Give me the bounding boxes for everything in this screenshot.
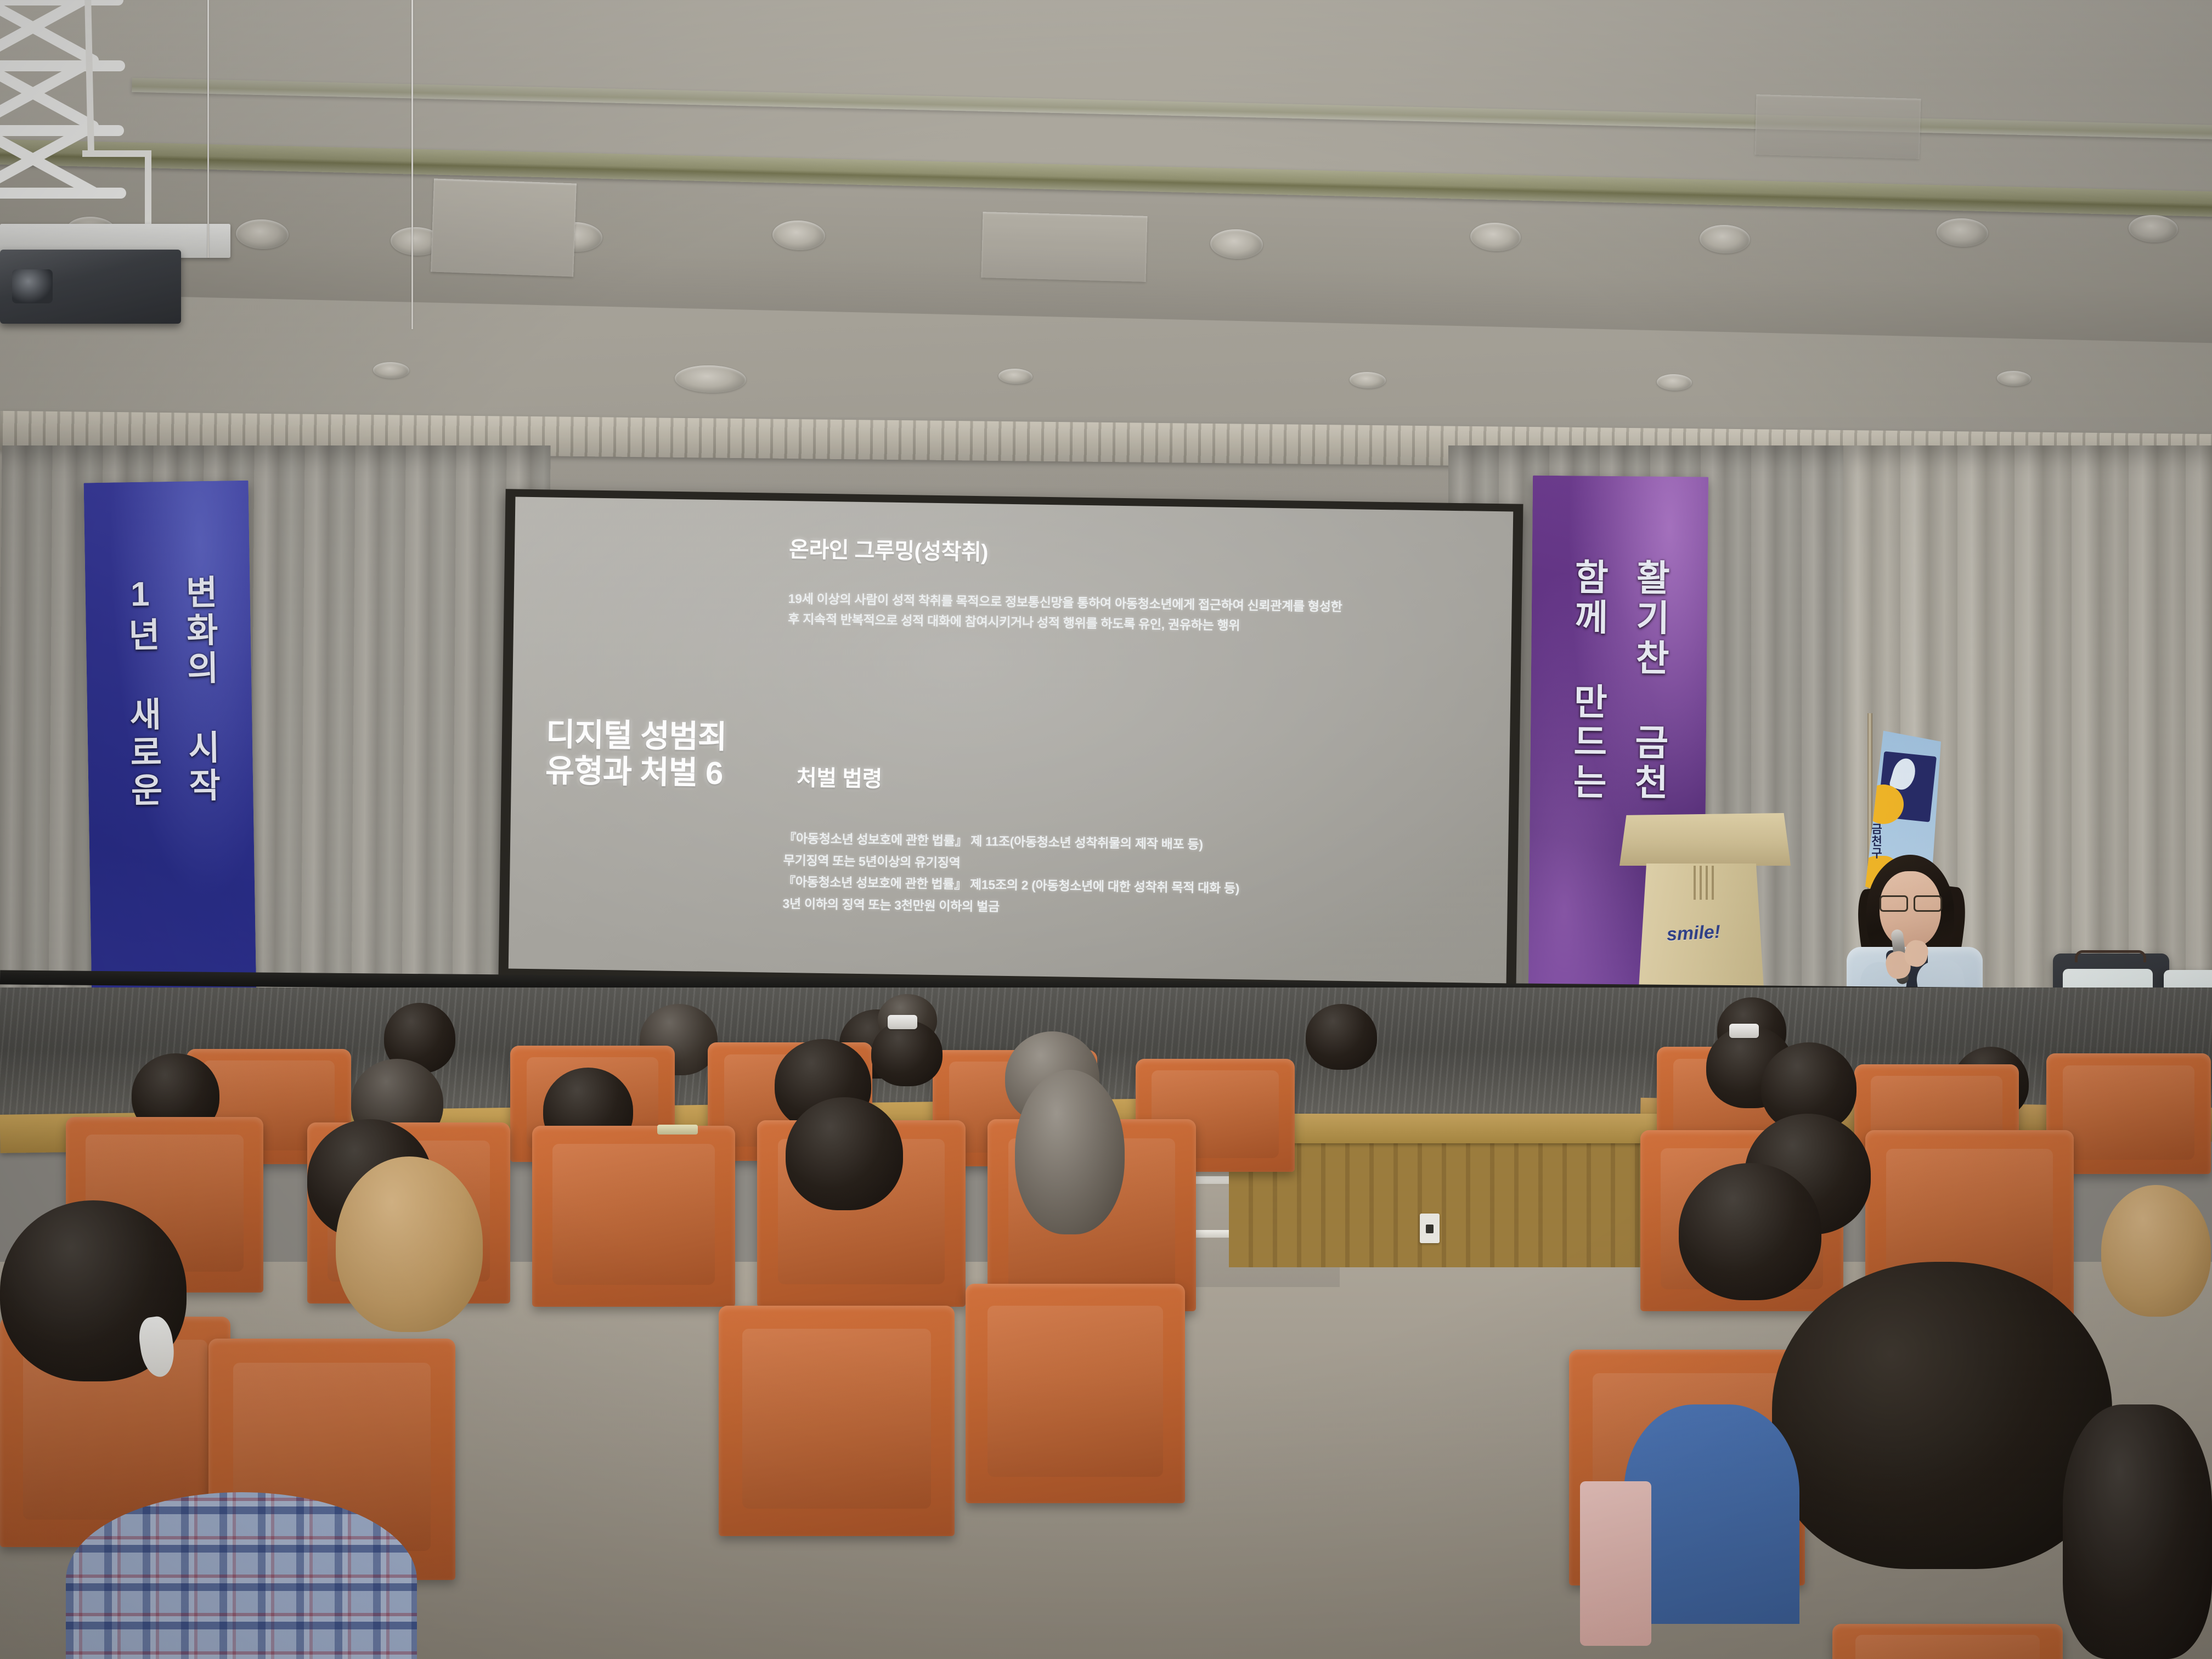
audience-head bbox=[871, 1020, 943, 1086]
audience-head-foreground bbox=[2101, 1185, 2211, 1317]
audience-head bbox=[786, 1097, 903, 1210]
podium-top bbox=[1620, 813, 1791, 866]
projection-screen: 디지털 성범죄 유형과 처벌 6 온라인 그루밍(성착취) 19세 이상의 사람… bbox=[509, 497, 1514, 984]
ceiling-vent bbox=[1755, 94, 1921, 159]
smartphone bbox=[657, 1125, 698, 1135]
wall-socket bbox=[1420, 1214, 1440, 1243]
ceiling-vent bbox=[981, 212, 1147, 282]
stage-curtain-left bbox=[0, 445, 551, 1005]
audience-head bbox=[1015, 1070, 1125, 1234]
slide-law-list: 『아동청소년 성보호에 관한 법률』 제 11조(아동청소년 성착취물의 제작 … bbox=[782, 828, 1398, 924]
projector-lens-icon bbox=[12, 269, 53, 303]
podium-smile-logo: smile! bbox=[1657, 921, 1730, 946]
audience-shoulders-plaid bbox=[66, 1492, 417, 1659]
slide-section-heading: 온라인 그루밍(성착취) bbox=[789, 532, 1283, 571]
pa-speaker-handle bbox=[2075, 950, 2146, 962]
projector bbox=[0, 250, 181, 324]
audience-head-foreground bbox=[1772, 1262, 2112, 1569]
presentation-slide: 디지털 성범죄 유형과 처벌 6 온라인 그루밍(성착취) 19세 이상의 사람… bbox=[509, 497, 1514, 984]
glasses-icon bbox=[1878, 895, 1943, 910]
ceiling-wire bbox=[207, 0, 209, 258]
auditorium-seat bbox=[966, 1284, 1185, 1503]
auditorium-photo: 디지털 성범죄 유형과 처벌 6 온라인 그루밍(성착취) 19세 이상의 사람… bbox=[0, 0, 2212, 1659]
banner-left-line2: 1년 새로운 bbox=[115, 575, 168, 810]
banner-right-line2: 함께 만드는 bbox=[1561, 558, 1616, 803]
auditorium-seat bbox=[719, 1306, 955, 1536]
slide-section-heading-2: 처벌 법령 bbox=[797, 760, 883, 793]
banner-left-blue: 변화의 시작 1년 새로운 bbox=[84, 481, 257, 1005]
hair-clip bbox=[1729, 1024, 1759, 1038]
auditorium-seat bbox=[1832, 1624, 2063, 1659]
auditorium-seat bbox=[532, 1126, 735, 1307]
audience-head bbox=[1306, 1004, 1377, 1070]
projection-screen-frame: 디지털 성범죄 유형과 처벌 6 온라인 그루밍(성착취) 19세 이상의 사람… bbox=[499, 489, 1523, 992]
banner-left-line1: 변화의 시작 bbox=[173, 574, 226, 809]
audience-head-foreground bbox=[1679, 1163, 1821, 1300]
ceiling-wire bbox=[411, 0, 413, 329]
ceiling-vent bbox=[431, 179, 577, 277]
slide-body-paragraph: 19세 이상의 사람이 성적 착취를 목적으로 정보통신망을 통하여 아동청소년… bbox=[788, 589, 1342, 637]
audience-head-foreground bbox=[2063, 1404, 2212, 1659]
audience-tote-bag bbox=[1580, 1481, 1651, 1646]
banner-right-line1: 활기찬 금천 bbox=[1622, 558, 1677, 804]
audience-head bbox=[336, 1156, 483, 1332]
hair-clip bbox=[888, 1015, 917, 1029]
podium-slots bbox=[1690, 866, 1714, 900]
